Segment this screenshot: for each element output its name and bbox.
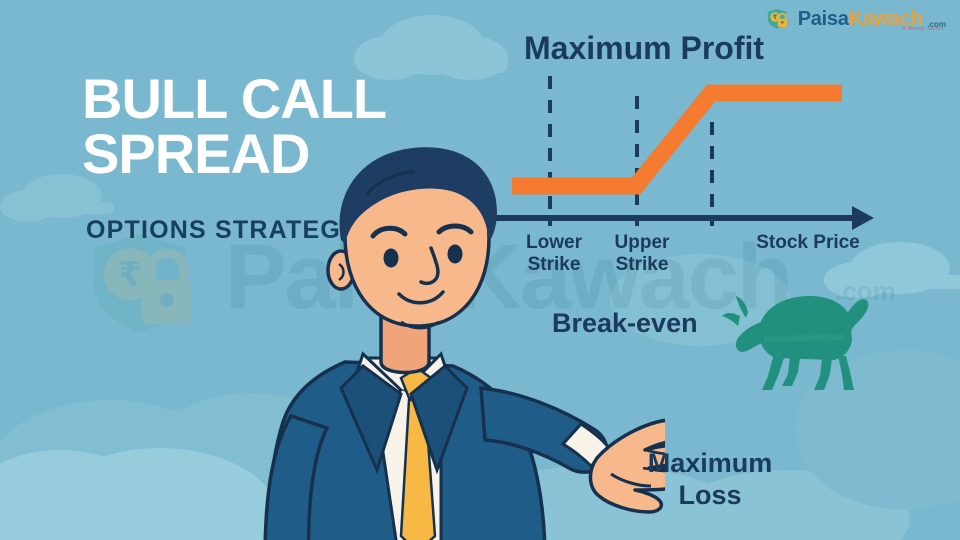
axis-label-stock-price: Stock Price — [738, 232, 878, 254]
title-line-1: BULL CALL — [82, 72, 386, 127]
label-break-even: Break-even — [552, 308, 698, 339]
maximum-loss-line-1: Maximum — [640, 448, 780, 480]
businessman-illustration — [245, 140, 665, 540]
eye-right — [448, 245, 463, 264]
eye-left — [384, 249, 399, 268]
maximum-loss-line-2: Loss — [640, 480, 780, 512]
label-maximum-loss: Maximum Loss — [640, 448, 780, 512]
logo-tagline: A Money Shield — [902, 26, 944, 32]
x-axis-arrow-icon — [852, 206, 874, 230]
bull-silhouette-icon — [718, 272, 878, 392]
infographic-canvas: ₹ PaisaKawach .com ₹ PaisaKawach .com A … — [0, 0, 960, 540]
